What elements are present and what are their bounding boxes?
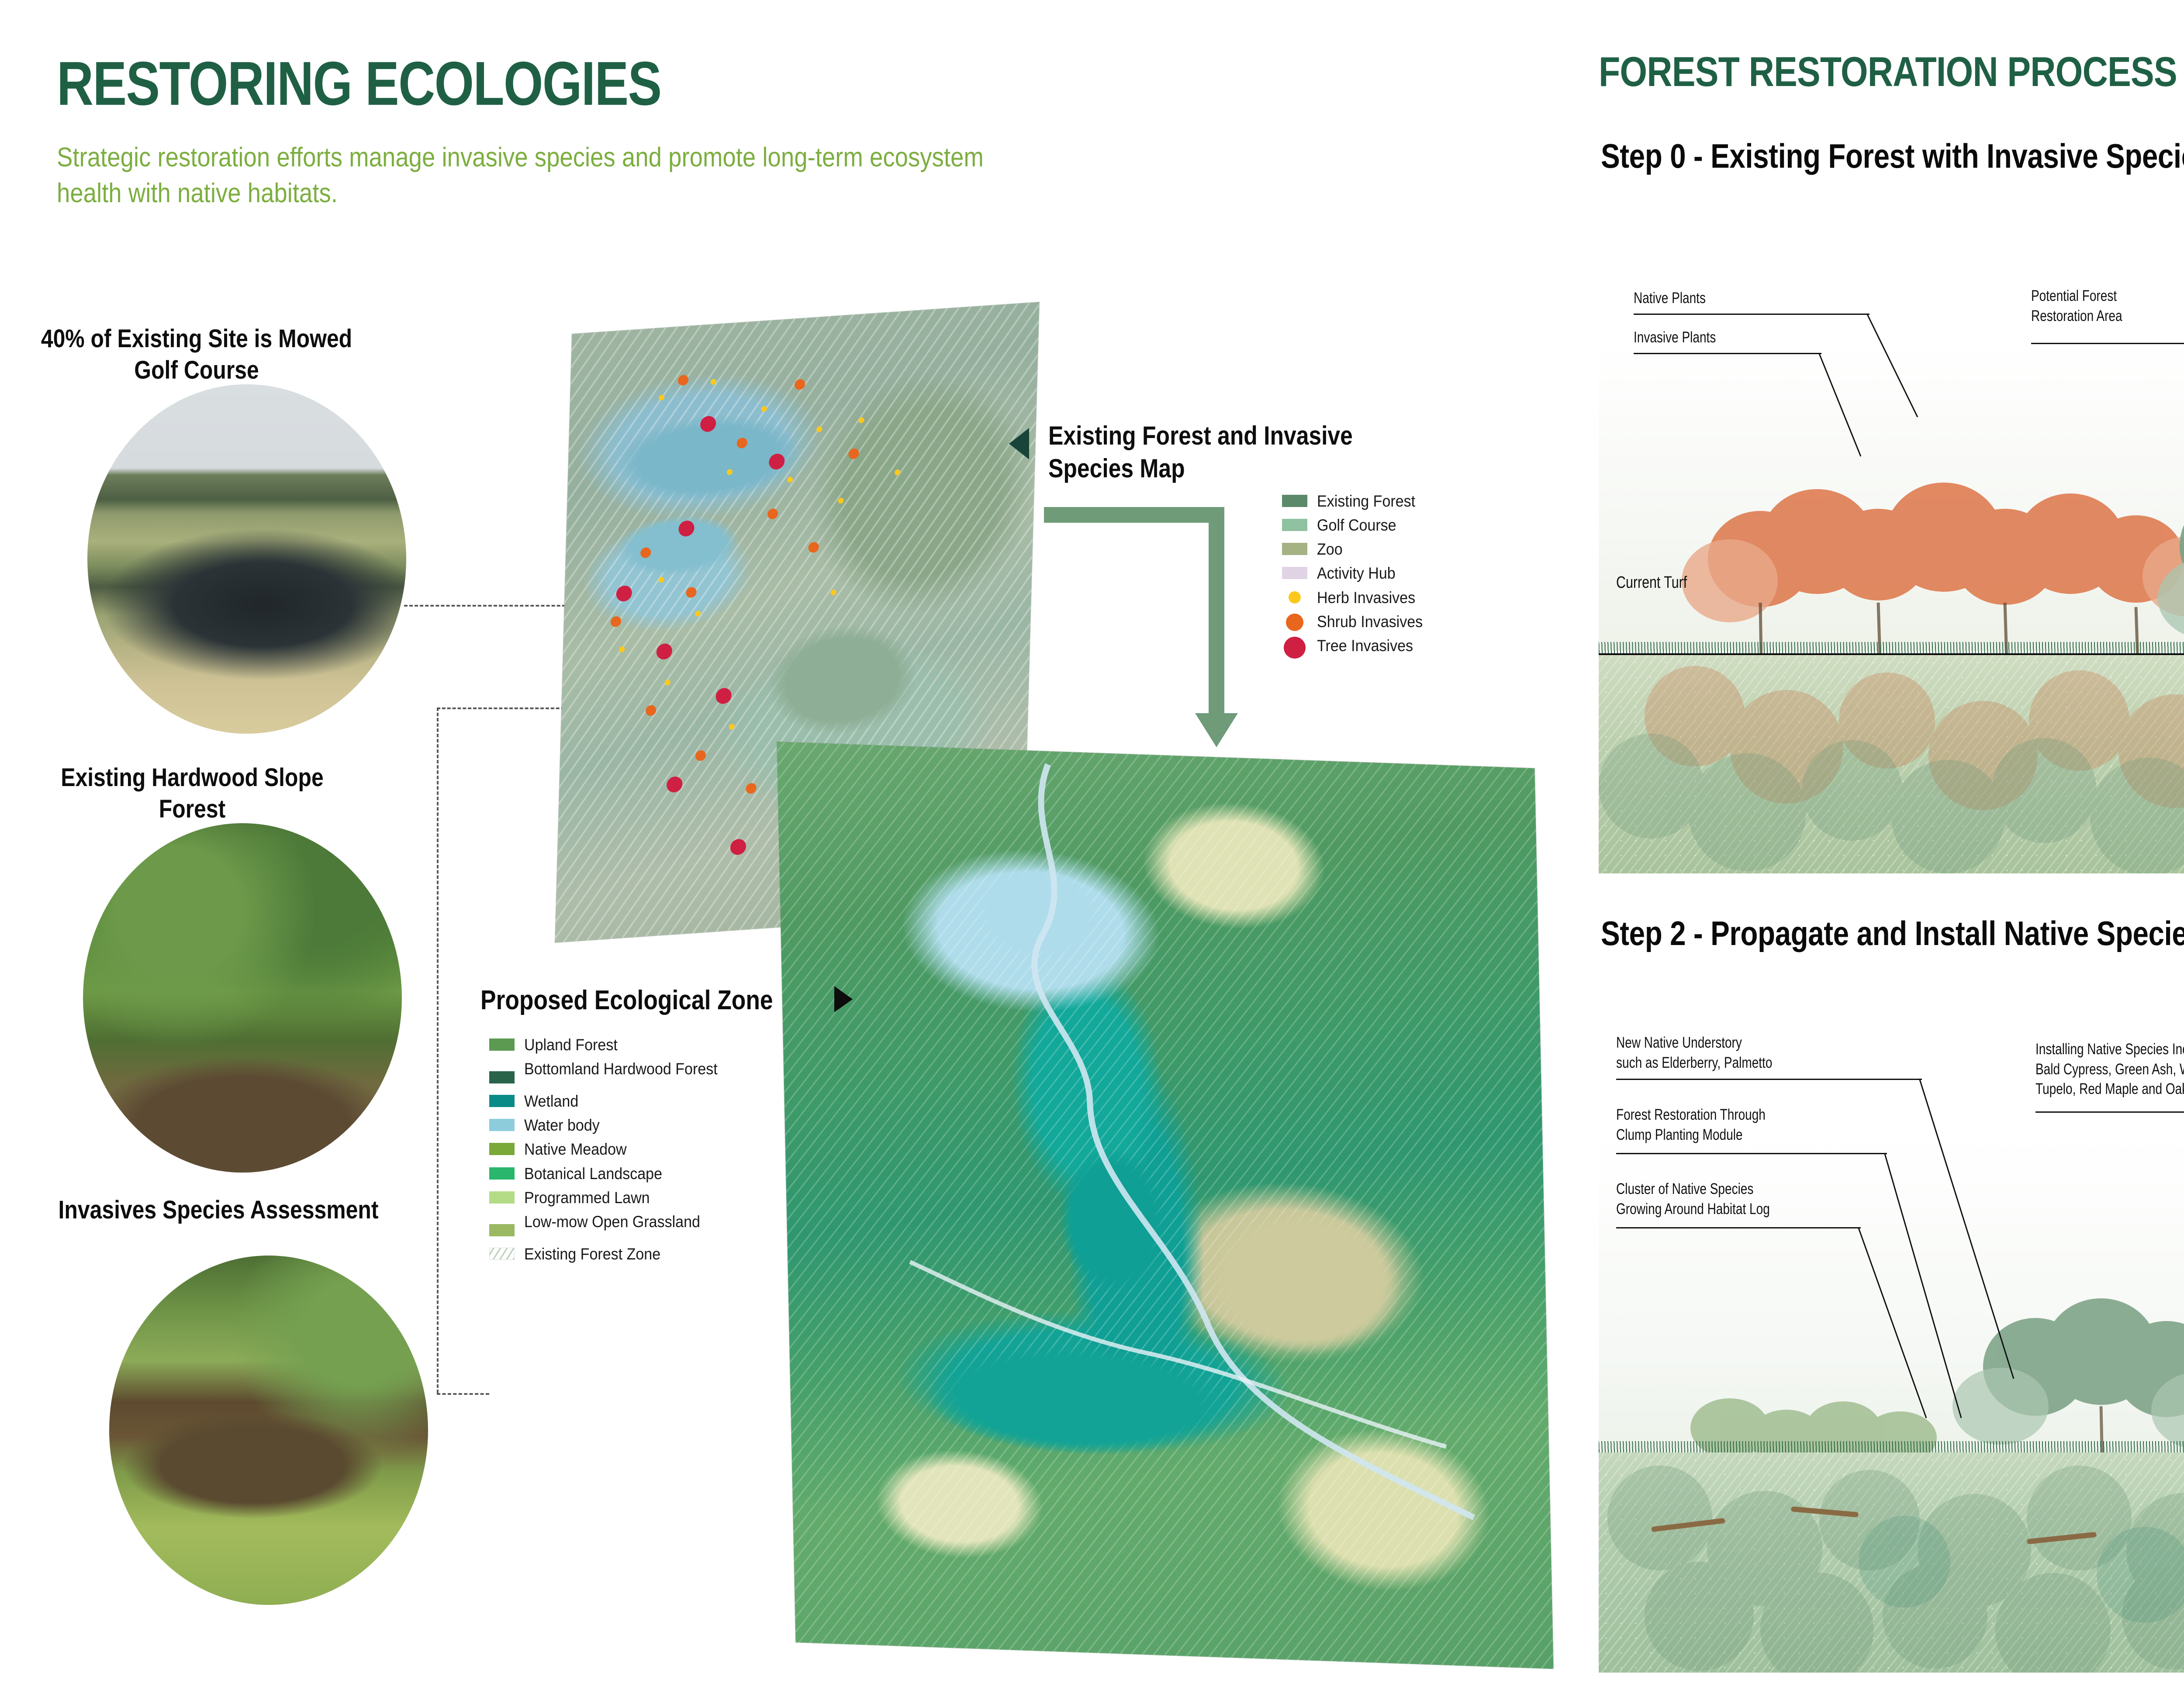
existing-map-legend: Existing Forest Golf Course Zoo Activity…: [1282, 491, 1432, 663]
legend-item[interactable]: Zoo: [1282, 539, 1432, 559]
legend-item[interactable]: Native Meadow: [489, 1139, 786, 1159]
legend-label: Programmed Lawn: [524, 1188, 650, 1207]
swatch-zoo: [1282, 543, 1307, 555]
swatch-golf-course: [1282, 519, 1307, 531]
legend-label: Low-mow Open Grassland: [524, 1212, 700, 1232]
swatch-native-meadow: [489, 1143, 515, 1155]
step-2-annotation-installing-native-species: Installing Native Species Including Bald…: [2035, 1039, 2184, 1099]
swatch-low-mow-open-grassland: [489, 1224, 515, 1236]
step-0-heading: Step 0 - Existing Forest with Invasive S…: [1601, 135, 2184, 177]
page-title: RESTORING ECOLOGIES: [57, 48, 661, 120]
annotation-rule: [1616, 1153, 1887, 1154]
hardwood-slope-forest-photo-caption: Existing Hardwood Slope Forest: [27, 762, 358, 825]
step-0-annotation-invasive-plants: Invasive Plants: [1634, 328, 1716, 348]
swatch-bottomland-hardwood-forest: [489, 1071, 515, 1083]
legend-item[interactable]: Bottomland Hardwood Forest: [489, 1059, 786, 1083]
legend-label: Bottomland Hardwood Forest: [524, 1059, 718, 1079]
invasive-species-photo: [109, 1256, 428, 1605]
process-section-title: FOREST RESTORATION PROCESS: [1599, 48, 2177, 96]
leader-golf-to-plan: [404, 605, 592, 607]
legend-label: Water body: [524, 1115, 600, 1135]
legend-item[interactable]: Shrub Invasives: [1282, 612, 1432, 631]
legend-item[interactable]: Programmed Lawn: [489, 1188, 786, 1207]
legend-item[interactable]: Upland Forest: [489, 1035, 786, 1055]
dot-shrub-invasives: [1286, 614, 1303, 631]
golf-course-photo: [87, 384, 406, 734]
annotation-leader: [1865, 312, 1926, 421]
legend-label: Upland Forest: [524, 1035, 618, 1055]
legend-item[interactable]: Low-mow Open Grassland: [489, 1212, 786, 1236]
page-subtitle: Strategic restoration efforts manage inv…: [57, 140, 1018, 211]
annotation-leader: [1817, 352, 1870, 461]
proposed-site-plan[interactable]: [777, 742, 1554, 1669]
proposed-legend-title: Proposed Ecological Zone: [480, 985, 773, 1016]
legend-item[interactable]: Existing Forest: [1282, 491, 1432, 511]
grass-band: [1599, 1441, 2184, 1452]
legend-item[interactable]: Golf Course: [1282, 515, 1432, 535]
annotation-rule: [1616, 1079, 1922, 1080]
leader-invasive-to-plan: [437, 1393, 489, 1395]
legend-label: Native Meadow: [524, 1139, 627, 1159]
legend-label: Golf Course: [1317, 515, 1396, 535]
map-caption-arrow-icon: [1009, 428, 1029, 459]
swatch-existing-forest: [1282, 495, 1307, 507]
annotation-rule: [1634, 353, 1821, 354]
golf-course-photo-caption: 40% of Existing Site is Mowed Golf Cours…: [28, 323, 366, 386]
annotation-leader: [1856, 1226, 1935, 1422]
step-2-heading: Step 2 - Propagate and Install Native Sp…: [1601, 913, 2184, 954]
step-2-annotation-cluster-habitat-log: Cluster of Native Species Growing Around…: [1616, 1179, 1770, 1219]
swatch-upland-forest: [489, 1038, 515, 1051]
legend-item[interactable]: Existing Forest Zone: [489, 1244, 786, 1264]
annotation-rule: [1634, 314, 1870, 315]
presentation-board: RESTORING ECOLOGIES Strategic restoratio…: [0, 0, 2184, 1687]
swatch-wetland: [489, 1095, 515, 1107]
proposed-map-legend: Upland Forest Bottomland Hardwood Forest…: [489, 1035, 786, 1268]
invasive-species-photo-caption: Invasives Species Assessment: [53, 1194, 384, 1226]
legend-label: Tree Invasives: [1317, 636, 1413, 655]
dot-herb-invasives: [1289, 591, 1301, 604]
legend-item[interactable]: Tree Invasives: [1282, 636, 1432, 659]
annotation-rule: [1616, 1227, 1861, 1228]
legend-item[interactable]: Wetland: [489, 1091, 786, 1111]
dot-tree-invasives: [1284, 637, 1306, 659]
swatch-existing-forest-zone: [489, 1248, 515, 1260]
grass-band: [1599, 642, 2184, 653]
legend-label: Shrub Invasives: [1317, 612, 1423, 631]
swatch-programmed-lawn: [489, 1191, 515, 1204]
legend-item[interactable]: Botanical Landscape: [489, 1164, 786, 1183]
swatch-activity-hub: [1282, 567, 1307, 579]
annotation-rule: [2035, 1111, 2184, 1113]
step-2-annotation-clump-planting-module: Forest Restoration Through Clump Plantin…: [1616, 1105, 1766, 1145]
leader-vertical: [437, 707, 439, 1393]
legend-item[interactable]: Herb Invasives: [1282, 588, 1432, 607]
existing-map-caption: Existing Forest and Invasive Species Map: [1048, 419, 1386, 485]
swatch-botanical-landscape: [489, 1167, 515, 1180]
legend-label: Zoo: [1317, 539, 1343, 559]
proposed-legend-arrow-icon: [834, 986, 853, 1012]
legend-label: Existing Forest: [1317, 491, 1415, 511]
step-2-annotation-native-understory: New Native Understory such as Elderberry…: [1616, 1033, 1772, 1073]
process-arrow-icon: [1040, 504, 1249, 749]
step-0-annotation-native-plants: Native Plants: [1634, 288, 1706, 308]
legend-label: Activity Hub: [1317, 563, 1396, 583]
legend-label: Botanical Landscape: [524, 1164, 662, 1183]
swatch-water-body: [489, 1119, 515, 1131]
step-0-annotation-current-turf: Current Turf: [1616, 572, 1687, 593]
legend-label: Herb Invasives: [1317, 588, 1415, 607]
legend-item[interactable]: Water body: [489, 1115, 786, 1135]
hardwood-slope-forest-photo: [83, 823, 402, 1173]
annotation-rule: [2031, 343, 2184, 344]
legend-item[interactable]: Activity Hub: [1282, 563, 1432, 583]
legend-label: Existing Forest Zone: [524, 1244, 660, 1264]
legend-label: Wetland: [524, 1091, 578, 1111]
step-0-annotation-restoration-area: Potential Forest Restoration Area: [2031, 286, 2122, 326]
